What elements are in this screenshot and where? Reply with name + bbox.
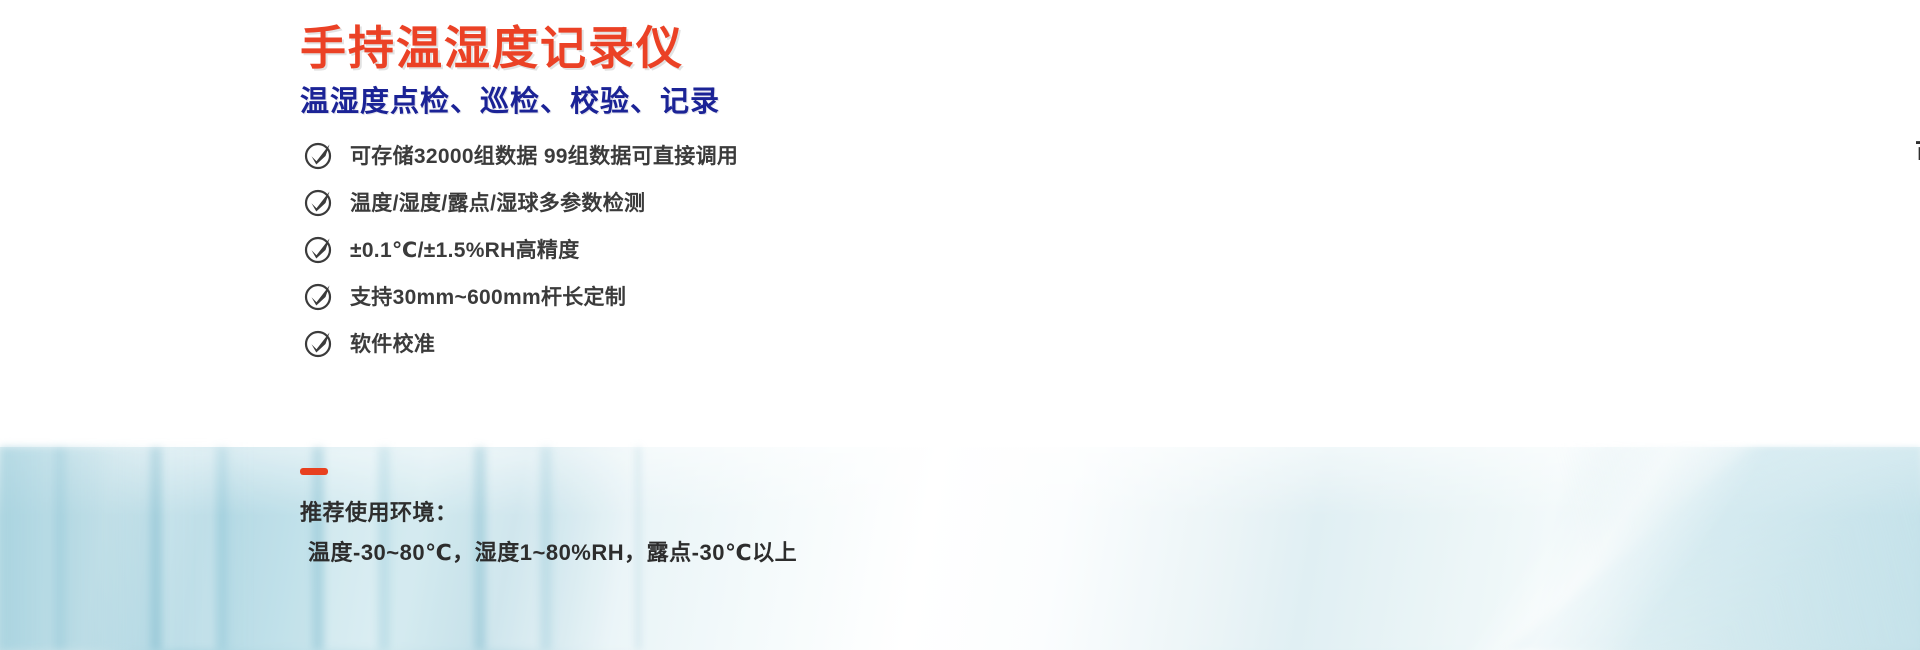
list-item: 支持30mm~600mm杆长定制 bbox=[302, 272, 738, 319]
page-title: 手持温湿度记录仪 bbox=[300, 12, 684, 78]
check-circle-icon bbox=[302, 232, 336, 266]
environment-note: 推荐使用环境： 温度-30~80℃，湿度1~80%RH，露点-30℃以上 bbox=[300, 468, 797, 573]
environment-heading: 推荐使用环境： bbox=[300, 493, 797, 533]
text-content-column: 手持温湿度记录仪 温湿度点检、巡检、校验、记录 可存储32000组数据 99组数… bbox=[0, 0, 960, 650]
page-subtitle: 温湿度点检、巡检、校验、记录 bbox=[300, 78, 720, 120]
check-circle-icon bbox=[302, 326, 336, 360]
check-circle-icon bbox=[302, 185, 336, 219]
list-item-label: ±0.1℃/±1.5%RH高精度 bbox=[350, 234, 580, 264]
probe-label: 可拆换探头 bbox=[1915, 133, 1920, 170]
feature-list: 可存储32000组数据 99组数据可直接调用 温度/湿度/露点/湿球多参数检测 bbox=[302, 131, 738, 366]
environment-detail: 温度-30~80℃，湿度1~80%RH，露点-30℃以上 bbox=[300, 533, 797, 573]
list-item: 软件校准 bbox=[302, 319, 738, 366]
list-item-label: 支持30mm~600mm杆长定制 bbox=[350, 281, 626, 311]
check-circle-icon bbox=[302, 279, 336, 313]
accent-dash bbox=[300, 468, 328, 475]
list-item: 温度/湿度/露点/湿球多参数检测 bbox=[302, 178, 738, 225]
list-item: ±0.1℃/±1.5%RH高精度 bbox=[302, 225, 738, 272]
list-item-label: 软件校准 bbox=[350, 328, 435, 358]
product-banner: 手持温湿度记录仪 温湿度点检、巡检、校验、记录 可存储32000组数据 99组数… bbox=[0, 0, 1920, 650]
list-item-label: 可存储32000组数据 99组数据可直接调用 bbox=[350, 140, 738, 170]
check-circle-icon bbox=[302, 138, 336, 172]
list-item: 可存储32000组数据 99组数据可直接调用 bbox=[302, 131, 738, 178]
list-item-label: 温度/湿度/露点/湿球多参数检测 bbox=[350, 187, 645, 217]
product-image-area: 可拆换探头 HENDKD 52.0 % RH 28.08 ℃ HQ970 MEM… bbox=[930, 0, 1920, 650]
